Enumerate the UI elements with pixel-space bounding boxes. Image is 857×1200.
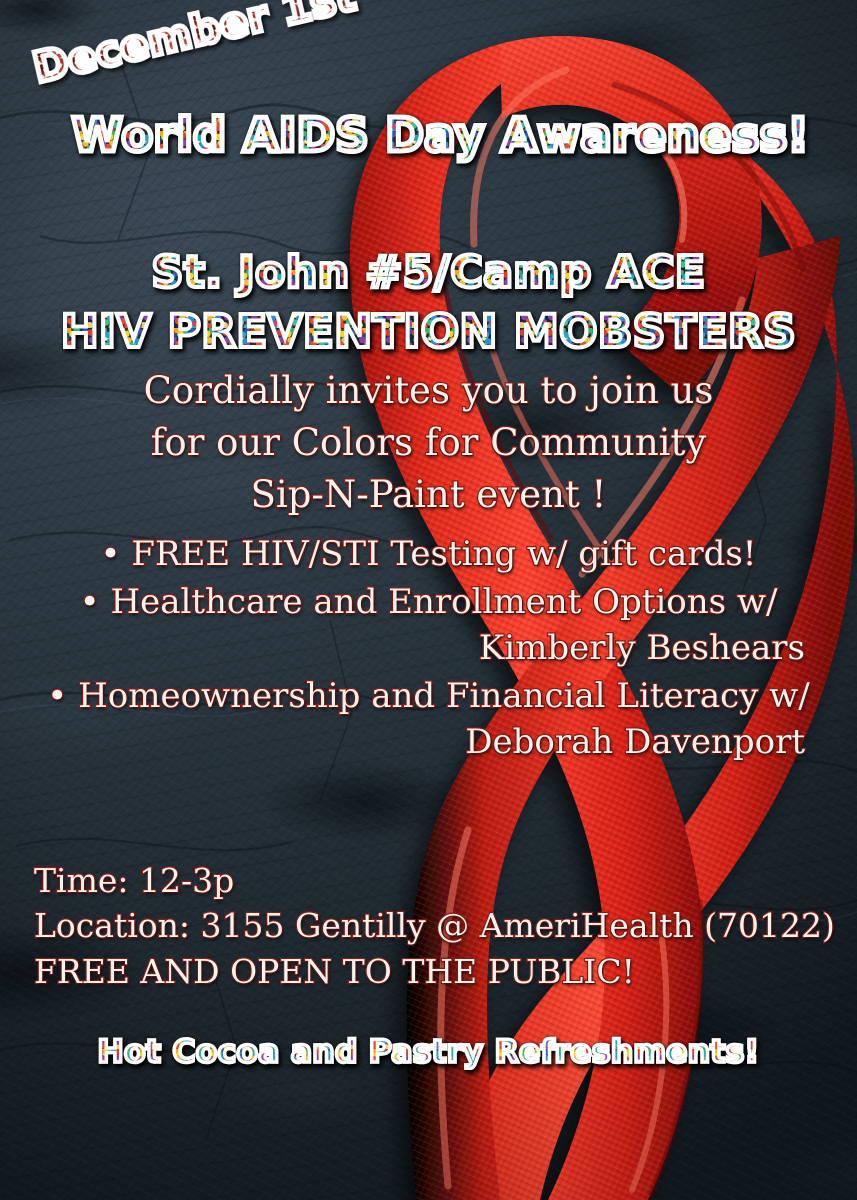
invitation-line-2: for our Colors for Community (0, 422, 857, 465)
event-time: Time: 12-3p (34, 862, 835, 900)
headline-text: World AIDS Day Awareness! (72, 108, 809, 162)
list-item: • FREE HIV/STI Testing w/ gift cards! (0, 535, 857, 574)
org-line-1: St. John #5/Camp ACE (0, 247, 857, 298)
services-list: • FREE HIV/STI Testing w/ gift cards! • … (0, 535, 857, 762)
event-details: Time: 12-3p Location: 3155 Gentilly @ Am… (34, 862, 835, 991)
list-item: • Homeownership and Financial Literacy w… (0, 677, 857, 716)
service-2-continuation: Kimberly Beshears (0, 629, 857, 668)
service-3-line-1: Homeownership and Financial Literacy w/ (78, 676, 810, 716)
footer-note: Hot Cocoa and Pastry Refreshments! (0, 1034, 857, 1070)
bullet-marker: • (47, 677, 67, 716)
headline: World AIDS Day Awareness! (0, 108, 857, 162)
service-1-line-1: FREE HIV/STI Testing w/ gift cards! (131, 534, 756, 574)
invitation-line-3: Sip-N-Paint event ! (0, 474, 857, 517)
footer-note-text: Hot Cocoa and Pastry Refreshments! (98, 1034, 760, 1070)
event-admission: FREE AND OPEN TO THE PUBLIC! (34, 953, 835, 991)
event-location: Location: 3155 Gentilly @ AmeriHealth (7… (34, 907, 835, 945)
service-2-line-1: Healthcare and Enrollment Options w/ (110, 582, 777, 622)
org-line-2: HIV PREVENTION MOBSTERS (0, 305, 857, 358)
list-item: • Healthcare and Enrollment Options w/ (0, 583, 857, 622)
poster-canvas: December 1st World AIDS Day Awareness! S… (0, 0, 857, 1200)
service-2-line-2: Kimberly Beshears (479, 628, 805, 668)
service-3-continuation: Deborah Davenport (0, 723, 857, 762)
service-3-line-2: Deborah Davenport (465, 722, 805, 762)
invitation-line-1: Cordially invites you to join us (0, 370, 857, 413)
bullet-marker: • (80, 583, 100, 622)
invitation-block: Cordially invites you to join us for our… (0, 370, 857, 517)
bullet-marker: • (101, 535, 121, 574)
org-line-1-text: St. John #5/Camp ACE (152, 247, 706, 298)
org-line-2-text: HIV PREVENTION MOBSTERS (61, 305, 796, 358)
